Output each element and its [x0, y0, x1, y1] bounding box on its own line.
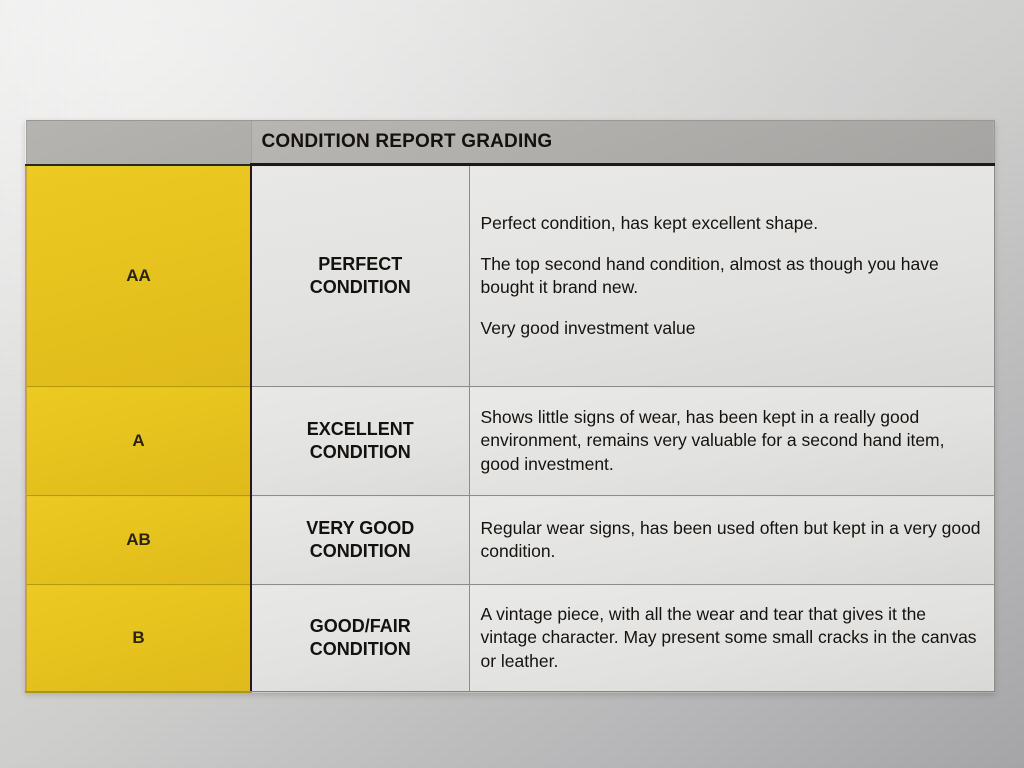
table-row-aa: AA PERFECT CONDITION Perfect condition, … — [26, 165, 994, 387]
condition-name-a: EXCELLENT CONDITION — [251, 387, 469, 496]
description-paragraph: Regular wear signs, has been used often … — [481, 517, 982, 563]
condition-description-a: Shows little signs of wear, has been kep… — [469, 387, 994, 496]
description-paragraph: Perfect condition, has kept excellent sh… — [481, 212, 982, 235]
grade-badge-a: A — [26, 387, 251, 496]
condition-name-line: PERFECT — [256, 253, 465, 276]
description-paragraph: The top second hand condition, almost as… — [481, 253, 982, 299]
table-header-row: CONDITION REPORT GRADING — [26, 121, 994, 165]
table-title-cell: CONDITION REPORT GRADING — [251, 121, 994, 165]
page-title: CONDITION REPORT GRADING — [252, 131, 994, 153]
condition-name-line: CONDITION — [256, 441, 465, 464]
table-row-a: A EXCELLENT CONDITION Shows little signs… — [26, 387, 994, 496]
description-paragraph: Shows little signs of wear, has been kep… — [481, 406, 982, 475]
description-paragraph: A vintage piece, with all the wear and t… — [481, 603, 982, 672]
condition-report-grading-table: CONDITION REPORT GRADING AA PERFECT COND… — [25, 120, 995, 693]
table-header: CONDITION REPORT GRADING — [26, 121, 994, 165]
condition-name-line: CONDITION — [256, 276, 465, 299]
condition-description-aa: Perfect condition, has kept excellent sh… — [469, 165, 994, 387]
condition-name-line: VERY GOOD — [256, 517, 465, 540]
table-row-b: B GOOD/FAIR CONDITION A vintage piece, w… — [26, 585, 994, 692]
header-spacer-cell — [26, 121, 251, 165]
table-body: AA PERFECT CONDITION Perfect condition, … — [26, 165, 994, 692]
condition-name-line: GOOD/FAIR — [256, 615, 465, 638]
grade-badge-ab: AB — [26, 496, 251, 585]
condition-name-b: GOOD/FAIR CONDITION — [251, 585, 469, 692]
table-row-ab: AB VERY GOOD CONDITION Regular wear sign… — [26, 496, 994, 585]
condition-name-line: EXCELLENT — [256, 418, 465, 441]
condition-name-line: CONDITION — [256, 540, 465, 563]
grade-badge-aa: AA — [26, 165, 251, 387]
condition-name-aa: PERFECT CONDITION — [251, 165, 469, 387]
condition-description-ab: Regular wear signs, has been used often … — [469, 496, 994, 585]
condition-name-ab: VERY GOOD CONDITION — [251, 496, 469, 585]
condition-name-line: CONDITION — [256, 638, 465, 661]
description-paragraph: Very good investment value — [481, 317, 982, 340]
grade-badge-b: B — [26, 585, 251, 692]
condition-description-b: A vintage piece, with all the wear and t… — [469, 585, 994, 692]
